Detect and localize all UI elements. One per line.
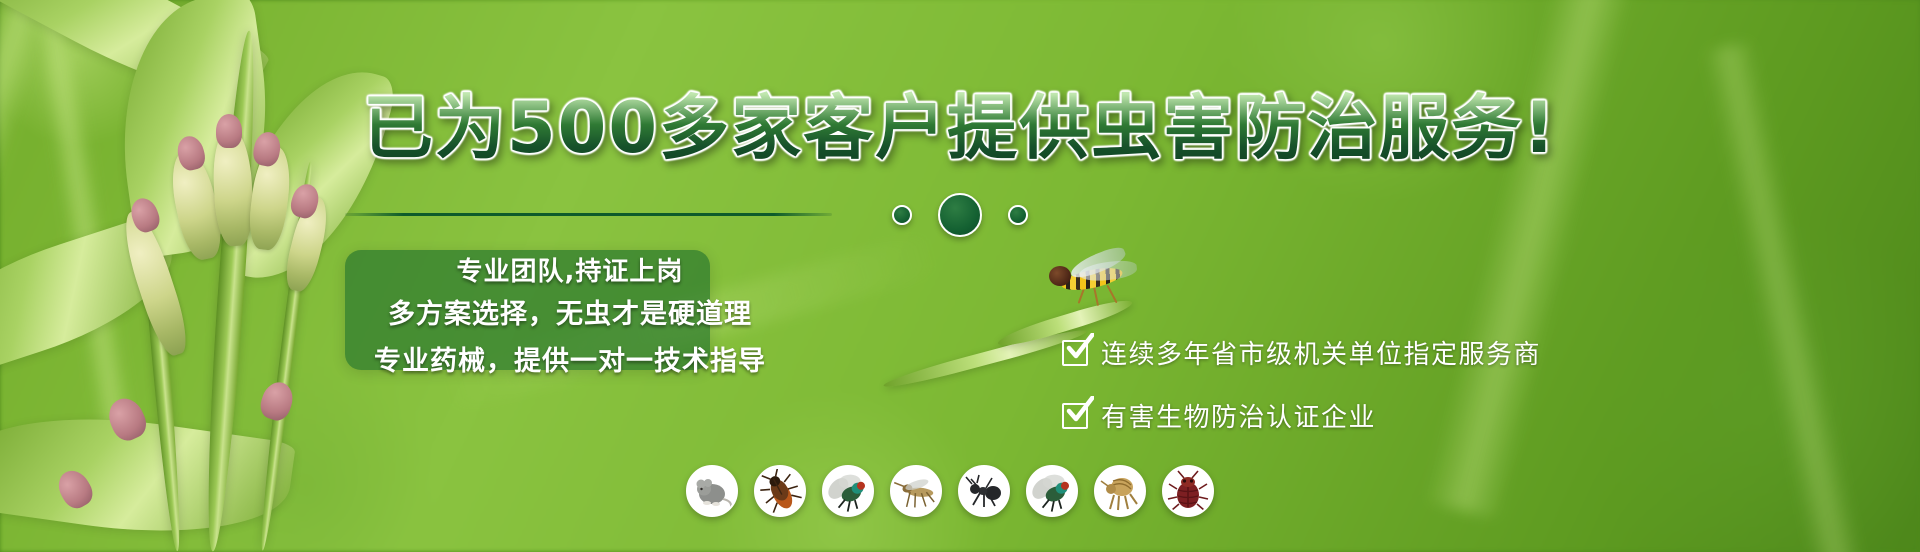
checklist-item: 有害生物防治认证企业 bbox=[1062, 397, 1541, 434]
mosquito-icon[interactable] bbox=[890, 465, 942, 517]
flea-icon[interactable] bbox=[1094, 465, 1146, 517]
decorative-dot-small bbox=[892, 205, 912, 225]
insect-leg bbox=[1093, 286, 1099, 306]
mouse-icon[interactable] bbox=[686, 465, 738, 517]
checkbox-checked-icon bbox=[1062, 340, 1088, 366]
insect-leg bbox=[1106, 285, 1117, 304]
slogan-line-1: 专业团队,持证上岗 bbox=[457, 252, 684, 292]
slogan-line-2: 多方案选择，无虫才是硬道理 bbox=[388, 292, 752, 338]
slogan-text-group: 专业团队,持证上岗 多方案选择，无虫才是硬道理 专业药械，提供一对一技术指导 bbox=[340, 252, 800, 385]
pest-control-banner: 已为500多家客户提供虫害防治服务! 专业团队,持证上岗 多方案选择，无虫才是硬… bbox=[0, 0, 1920, 552]
cockroach-icon[interactable] bbox=[754, 465, 806, 517]
hoverfly-insect bbox=[1035, 250, 1155, 308]
blowfly-icon[interactable] bbox=[1026, 465, 1078, 517]
checklist-item-label: 有害生物防治认证企业 bbox=[1101, 397, 1376, 434]
plant-bud-tip bbox=[257, 378, 297, 423]
checkbox-checked-icon bbox=[1062, 403, 1088, 429]
fly-icon[interactable] bbox=[822, 465, 874, 517]
decorative-dot-large bbox=[938, 193, 982, 237]
checklist-item-label: 连续多年省市级机关单位指定服务商 bbox=[1101, 334, 1541, 371]
pest-icon-strip bbox=[686, 465, 1214, 517]
checklist-item: 连续多年省市级机关单位指定服务商 bbox=[1062, 334, 1541, 371]
decorative-dots bbox=[0, 193, 1920, 237]
slogan-line-3: 专业药械，提供一对一技术指导 bbox=[374, 339, 766, 385]
insect-head bbox=[1049, 266, 1071, 286]
decorative-dot-small bbox=[1008, 205, 1028, 225]
divider-line bbox=[345, 213, 832, 216]
ant-icon[interactable] bbox=[958, 465, 1010, 517]
credentials-checklist: 连续多年省市级机关单位指定服务商 有害生物防治认证企业 bbox=[1062, 334, 1541, 434]
plant-leaf bbox=[0, 398, 296, 552]
page-title: 已为500多家客户提供虫害防治服务! bbox=[0, 72, 1920, 173]
bedbug-icon[interactable] bbox=[1162, 465, 1214, 517]
